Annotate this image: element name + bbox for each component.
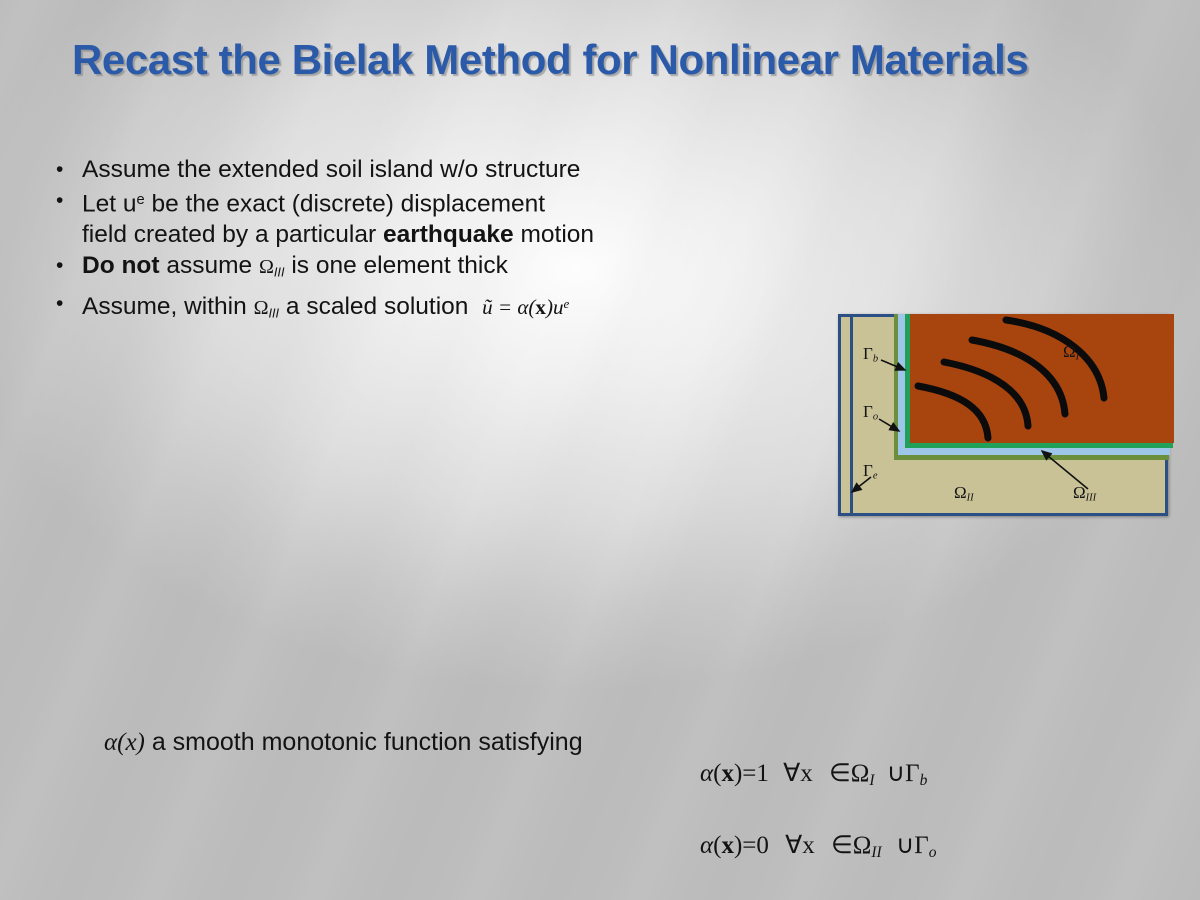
alpha-symbol: α(x) (104, 729, 145, 756)
bullet-marker: • (56, 250, 82, 281)
omega-subscript: III (268, 305, 279, 320)
label-omega-II: ΩII (954, 484, 974, 504)
label-omega-I: ΩI (1063, 343, 1079, 363)
slide-canvas: Recast the Bielak Method for Nonlinear M… (0, 0, 1200, 900)
bullet-text-4: Do not assume ΩIII is one element thick (82, 250, 826, 287)
omega-symbol: Ω (254, 297, 269, 319)
bullet-5-lead: Assume, within (82, 293, 254, 320)
bullet-2-rest: be the exact (discrete) displacement (145, 190, 545, 217)
list-item: • Assume, within ΩIII a scaled solution … (56, 288, 826, 328)
bullet-2-superscript: e (137, 192, 145, 208)
scaled-solution-formula: ũ = α(x)ue (482, 295, 569, 319)
arrow-gamma-b (881, 360, 905, 370)
label-gamma-b: Γb (863, 345, 878, 365)
bullet-marker: • (56, 288, 82, 319)
label-gamma-o: Γo (863, 403, 878, 423)
bullet-4-mid: assume (160, 252, 259, 279)
alpha-condition-1: α(x)=1 ∀x ∈ΩI ∪Γb (700, 758, 1200, 790)
omega-symbol: Ω (259, 256, 274, 278)
bullet-2-lead: Let u (82, 190, 137, 217)
list-item: • Let ue be the exact (discrete) displac… (56, 185, 826, 219)
diagram-arrows (841, 317, 1171, 519)
bullet-5-rest: a scaled solution (279, 293, 468, 320)
bullet-marker: • (56, 185, 82, 216)
bullet-text-2: Let ue be the exact (discrete) displacem… (82, 185, 826, 219)
bullet-3-lead: field created by a particular (82, 221, 383, 248)
alpha-condition-2: α(x)=0 ∀x ∈ΩII ∪Γo (700, 830, 1200, 862)
arrow-gamma-o (879, 419, 899, 431)
bullet-text-1: Assume the extended soil island w/o stru… (82, 154, 826, 185)
alpha-description: α(x) a smooth monotonic function satisfy… (104, 728, 1200, 757)
bullet-text-5: Assume, within ΩIII a scaled solution ũ … (82, 288, 826, 328)
bullet-4-bold: Do not (82, 252, 160, 279)
bullet-4-rest: is one element thick (285, 252, 508, 279)
bullet-3-bold: earthquake (383, 221, 514, 248)
list-item: • field created by a particular earthqua… (56, 219, 826, 250)
list-item: • Assume the extended soil island w/o st… (56, 154, 826, 185)
bullet-marker: • (56, 154, 82, 185)
label-omega-III: ΩIII (1073, 484, 1096, 504)
omega-subscript: III (274, 265, 285, 280)
list-item: • Do not assume ΩIII is one element thic… (56, 250, 826, 287)
label-gamma-e: Γe (863, 462, 878, 482)
bullet-list: • Assume the extended soil island w/o st… (56, 154, 826, 328)
soil-island-diagram: Γb Γo Γe ΩI ΩII ΩIII (838, 314, 1168, 516)
bullet-text-3: field created by a particular earthquake… (82, 219, 826, 250)
bullet-3-rest: motion (514, 221, 594, 248)
alpha-description-text: a smooth monotonic function satisfying (152, 728, 583, 756)
page-title: Recast the Bielak Method for Nonlinear M… (72, 36, 1162, 84)
